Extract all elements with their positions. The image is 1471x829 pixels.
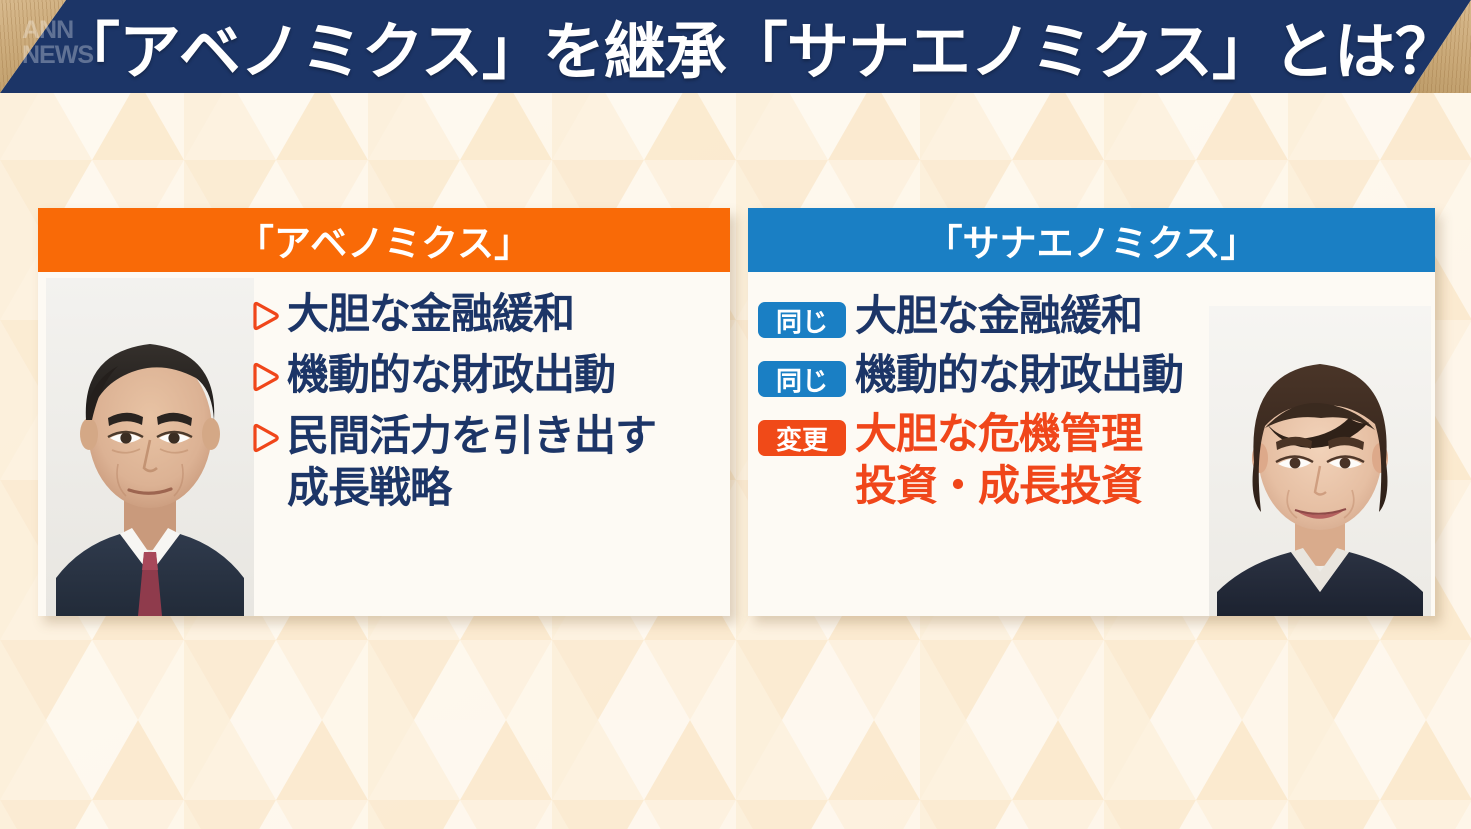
card-abenomics: 「アベノミクス」 (38, 208, 730, 616)
badge-same: 同じ (758, 302, 846, 338)
badge-change: 変更 (758, 420, 846, 456)
list-item: 変更 大胆な危機管理 投資・成長投資 (758, 408, 1228, 510)
card-sanaenomics-body: 同じ 大胆な金融緩和 同じ 機動的な財政出動 変更 大胆な危機管理 投資・成長投… (748, 272, 1435, 616)
triangle-play-icon (250, 301, 280, 331)
abe-portrait-svg (46, 278, 254, 616)
triangle-play-icon (250, 423, 280, 453)
card-sanaenomics-title: 「サナエノミクス」 (748, 208, 1435, 272)
takaichi-portrait-svg (1209, 306, 1431, 616)
sanaenomics-item-list: 同じ 大胆な金融緩和 同じ 機動的な財政出動 変更 大胆な危機管理 投資・成長投… (758, 290, 1228, 511)
list-item: 機動的な財政出動 (250, 349, 720, 400)
card-abenomics-body: 大胆な金融緩和 機動的な財政出動 民間活力を引き出す 成長戦略 (38, 272, 730, 616)
list-item-text: 大胆な金融緩和 (287, 288, 574, 339)
sanae-takaichi-portrait (1209, 306, 1431, 616)
list-item: 民間活力を引き出す 成長戦略 (250, 410, 720, 512)
list-item-text: 機動的な財政出動 (287, 349, 615, 400)
abenomics-item-list: 大胆な金融緩和 機動的な財政出動 民間活力を引き出す 成長戦略 (250, 288, 720, 513)
list-item: 同じ 機動的な財政出動 (758, 349, 1228, 400)
list-item-text: 機動的な財政出動 (855, 349, 1183, 400)
card-sanaenomics: 「サナエノミクス」 (748, 208, 1435, 616)
shinzo-abe-portrait (46, 278, 254, 616)
list-item: 大胆な金融緩和 (250, 288, 720, 339)
page-title: 「アベノミクス」を継承「サナエノミクス」とは？ (58, 2, 1471, 90)
triangle-play-icon (250, 362, 280, 392)
card-abenomics-title: 「アベノミクス」 (38, 208, 730, 272)
badge-same: 同じ (758, 361, 846, 397)
list-item-text: 大胆な金融緩和 (855, 290, 1142, 341)
list-item-text: 大胆な危機管理 投資・成長投資 (855, 408, 1142, 510)
list-item: 同じ 大胆な金融緩和 (758, 290, 1228, 341)
list-item-text: 民間活力を引き出す 成長戦略 (287, 410, 656, 512)
